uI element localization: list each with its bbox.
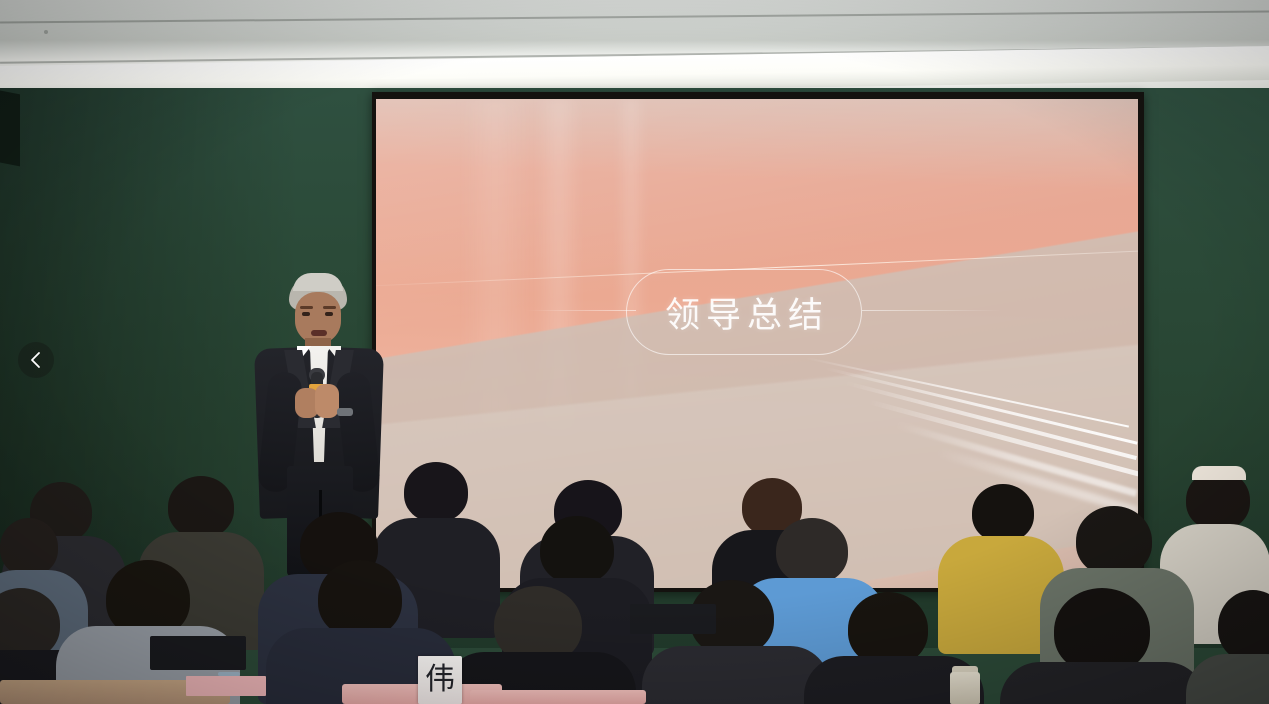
audience-head bbox=[0, 518, 58, 576]
presenter-face bbox=[295, 292, 341, 344]
presenter-eyebrow bbox=[300, 306, 313, 309]
pen bbox=[218, 672, 240, 676]
presenter-mouth bbox=[311, 330, 327, 336]
audience-body bbox=[1186, 654, 1269, 704]
water-bottle bbox=[950, 672, 980, 704]
audience-head bbox=[848, 592, 928, 666]
chevron-left-icon bbox=[29, 351, 43, 369]
photo-viewer-stage: 领导总结 bbox=[0, 0, 1269, 704]
audience-head bbox=[404, 462, 468, 522]
presenter-eye bbox=[302, 312, 310, 316]
presenter-eye bbox=[325, 312, 333, 316]
presenter-watch bbox=[337, 408, 353, 416]
slide-title-pill: 领导总结 bbox=[626, 269, 862, 355]
audience-head bbox=[540, 516, 614, 584]
desk-nameplate: 伟 bbox=[418, 656, 462, 704]
audience-body bbox=[642, 646, 830, 704]
headband bbox=[1192, 466, 1246, 480]
presenter-hair-top bbox=[293, 273, 343, 291]
pink-paper bbox=[186, 676, 266, 696]
audience-head bbox=[318, 560, 402, 638]
presenter-eyebrow bbox=[323, 306, 336, 309]
prev-image-button[interactable] bbox=[18, 342, 54, 378]
wall-mounted-speaker bbox=[0, 90, 20, 167]
audience-head bbox=[776, 518, 848, 584]
audience-head bbox=[1076, 506, 1152, 576]
ceiling-seam bbox=[0, 10, 1269, 23]
nameplate-text: 伟 bbox=[425, 665, 455, 695]
presenter-hand-right bbox=[315, 384, 339, 418]
audience-head bbox=[168, 476, 234, 538]
slide-hairline-left bbox=[526, 310, 636, 311]
slide-title: 领导总结 bbox=[659, 287, 829, 338]
laptop bbox=[150, 636, 246, 670]
slide-hairline-right bbox=[862, 310, 1002, 311]
ceiling-fixture-dot bbox=[44, 30, 48, 34]
audience-body bbox=[1000, 662, 1206, 704]
laptop bbox=[630, 604, 716, 634]
audience-head bbox=[972, 484, 1034, 542]
desk-pink-right bbox=[470, 690, 646, 704]
ceiling bbox=[0, 0, 1269, 96]
